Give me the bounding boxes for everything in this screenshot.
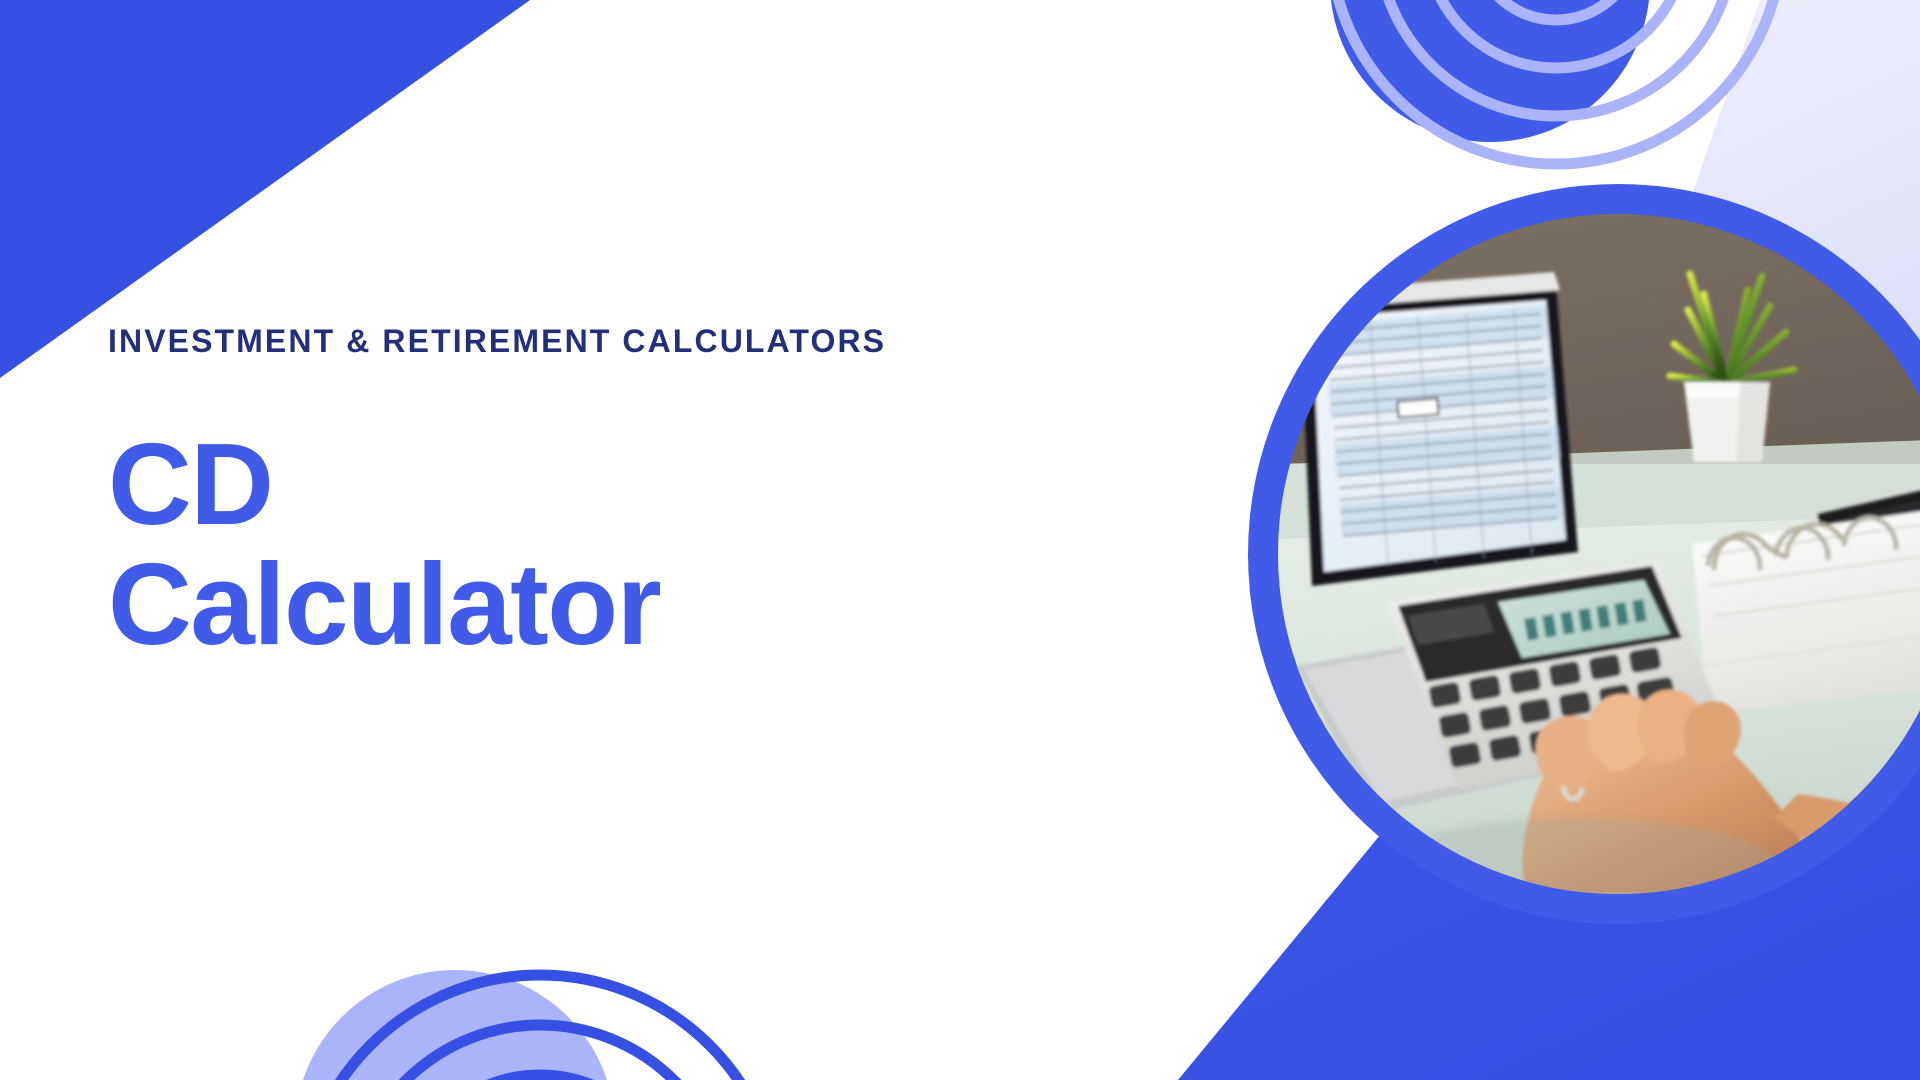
ring-binder — [1692, 506, 1920, 714]
hero-banner: INVESTMENT & RETIREMENT CALCULATORS CD C… — [0, 0, 1920, 1080]
page-title-line-2: Calculator — [108, 545, 1188, 664]
photo-clip — [1278, 214, 1920, 894]
page-title-line-1: CD — [108, 425, 1188, 544]
page-title: CD Calculator — [108, 359, 1188, 664]
hero-text-block: INVESTMENT & RETIREMENT CALCULATORS CD C… — [108, 324, 1188, 664]
tablet-spreadsheet — [1294, 272, 1578, 586]
photo-illustration — [1278, 214, 1920, 894]
hero-eyebrow: INVESTMENT & RETIREMENT CALCULATORS — [108, 324, 1188, 359]
decor-corner-triangle-dark — [0, 0, 530, 378]
hero-photo — [1248, 184, 1920, 924]
